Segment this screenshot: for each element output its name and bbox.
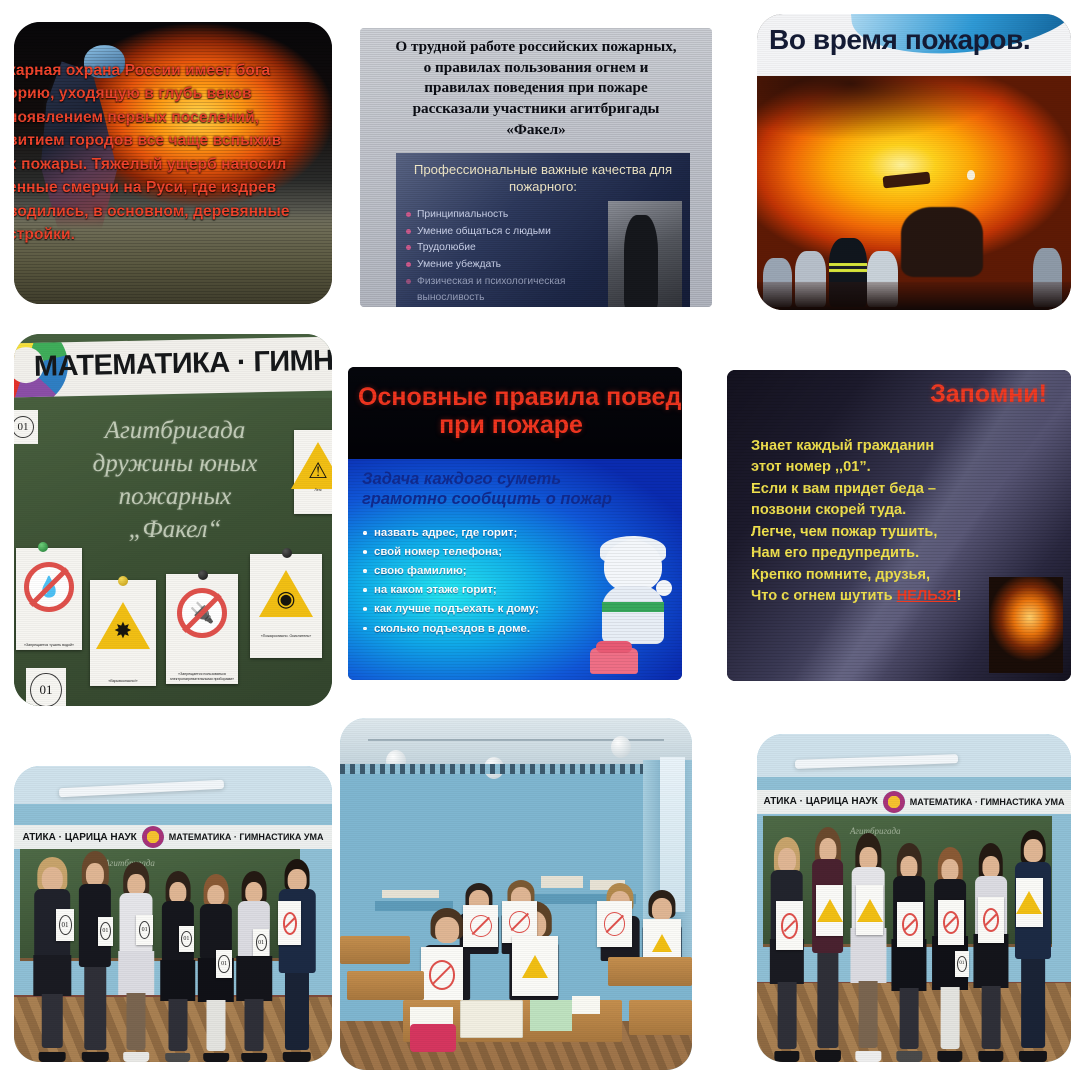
banner-text-left: АТИКА · ЦАРИЦА НАУК (763, 796, 877, 807)
student (848, 836, 889, 1062)
card-01: 01 (253, 929, 269, 956)
math-banner: МАТЕМАТИКА · ГИМНА (14, 337, 332, 398)
warning-triangle-icon: ✸ (96, 602, 150, 649)
prohibition-icon (943, 911, 959, 934)
poster-prohibition (978, 897, 1004, 942)
shoes (124, 1052, 150, 1062)
poster-caption: «Пожароопасно. Окислитель» (252, 634, 320, 638)
head (778, 848, 796, 873)
prohibition-icon (509, 911, 531, 933)
legs (245, 999, 264, 1050)
poster-warning (856, 885, 883, 935)
panel-group-photo-right[interactable]: АТИКА · ЦАРИЦА НАУК МАТЕМАТИКА · ГИМНАСТ… (757, 734, 1071, 1062)
banner-text-left: АТИКА · ЦАРИЦА НАУК (22, 832, 136, 843)
card-01: 01 (179, 926, 195, 953)
legs (982, 986, 1001, 1049)
card-01: 01 (955, 951, 969, 977)
chalk-line-3: пожарных (24, 480, 326, 513)
poster-prohibition (463, 905, 498, 947)
skirt (851, 928, 886, 982)
student: 01 (157, 873, 198, 1062)
skirt (33, 955, 70, 995)
math-banner-text: МАТЕМАТИКА · ГИМНА (34, 344, 332, 384)
head (169, 882, 186, 903)
card-01-number: 01 (59, 915, 72, 935)
card-01-number: 01 (256, 934, 267, 950)
poster-caption: «Запрещается тушить водой» (18, 643, 80, 647)
wall-frieze (340, 764, 692, 774)
prohibition-icon (470, 915, 492, 937)
head (942, 859, 959, 880)
head (207, 885, 224, 906)
poster-warning-partial: ⚠ Легк (294, 430, 332, 514)
head (288, 869, 307, 891)
warning-triangle-icon (817, 899, 843, 922)
student (766, 839, 807, 1062)
card-01-number: 01 (181, 931, 192, 947)
shoes (241, 1053, 267, 1062)
shoes (39, 1052, 66, 1062)
warning-triangle-icon (1016, 891, 1042, 914)
warning-triangle-icon: ⚠ (291, 442, 332, 489)
poster-no-water: 💧 «Запрещается тушить водой» (16, 548, 82, 650)
explosion-glyph: ✸ (104, 616, 142, 646)
skirt (236, 956, 272, 1001)
water-bucket-glyph: 💧 (37, 575, 62, 600)
warning-glyph: ⚠ (299, 456, 332, 486)
prohibition-icon (902, 913, 918, 937)
banner-text-right: МАТЕМАТИКА · ГИМНАСТИКА УМА (169, 832, 324, 842)
head (128, 874, 145, 896)
student: 01 (195, 876, 236, 1062)
shoes (774, 1051, 799, 1062)
desk (629, 1000, 692, 1035)
book-stack (382, 890, 438, 898)
ground (757, 282, 1071, 310)
smoke (757, 76, 1071, 156)
card-01-number: 01 (14, 416, 34, 438)
fire-photo (757, 76, 1071, 310)
book-stack (541, 876, 583, 888)
prohibition-icon (283, 912, 297, 935)
ceiling-lamp-globe (611, 736, 631, 758)
pin-yellow (118, 576, 128, 586)
panel-history-slide[interactable]: карная охрана России имеет бога орию, ух… (14, 22, 332, 304)
prohibition-icon (429, 960, 455, 989)
poster-explosive: ✸ «Взрывоопасно!» (90, 580, 156, 686)
legs (900, 988, 919, 1049)
legs (168, 999, 187, 1050)
head (42, 867, 62, 891)
shoes (815, 1050, 841, 1062)
open-book (460, 1000, 523, 1039)
poster-prohibition (597, 901, 632, 947)
debris (882, 172, 930, 189)
head (860, 847, 877, 870)
poster-prohibition (897, 902, 923, 947)
shoes (82, 1052, 108, 1062)
legs (42, 994, 62, 1048)
student (275, 861, 320, 1062)
shoes (937, 1051, 962, 1062)
poster-caption: Легк (296, 488, 332, 492)
school-bag (410, 1024, 456, 1052)
shoes (203, 1053, 229, 1062)
card-01-number: 01 (100, 922, 111, 940)
school-emblem-icon (142, 826, 164, 848)
shoes (165, 1053, 191, 1062)
poster-oxidizer: ◉ «Пожароопасно. Окислитель» (250, 554, 322, 658)
photo-collage: карная охрана России имеет бога орию, ух… (0, 0, 1080, 1080)
student (971, 846, 1012, 1062)
poster-warning (512, 936, 558, 996)
prohibition-icon: 🔌 (177, 588, 227, 638)
spark (967, 170, 975, 180)
prohibition-icon (983, 908, 999, 932)
card-01-number: 01 (30, 673, 61, 706)
head (245, 882, 262, 903)
panel-blackboard[interactable]: Агитбригада дружины юных пожарных „Факел… (14, 334, 332, 706)
prohibition-icon: 💧 (24, 562, 74, 612)
screen-scanlines (14, 22, 332, 304)
poster-caption: «Запрещается пользоваться электронагрева… (168, 672, 236, 681)
screen-scanlines (727, 370, 1071, 681)
poster-prohibition (278, 901, 301, 945)
legs (777, 982, 796, 1049)
poster-warning (1016, 878, 1043, 926)
heater-plug-glyph: 🔌 (190, 601, 215, 626)
screen-scanlines (348, 367, 682, 680)
card-01-number: 01 (139, 921, 151, 939)
legs (127, 993, 146, 1051)
poster-prohibition (421, 947, 463, 1003)
poster-no-heaters: 🔌 «Запрещается пользоваться электронагре… (166, 574, 238, 684)
legs (941, 987, 960, 1049)
panel-remember-slide[interactable]: Запомни! Знает каждый гражданин этот ном… (727, 370, 1071, 681)
green-notebook (530, 1000, 572, 1032)
head (982, 856, 999, 878)
head (819, 838, 836, 861)
oxidizer-flame-glyph: ◉ (267, 584, 305, 614)
card-01: 01 (26, 668, 66, 706)
card-01: 01 (14, 410, 38, 444)
card-01-number: 01 (218, 955, 230, 972)
panel-fire-photo-slide[interactable]: Во время пожаров. (757, 14, 1071, 310)
panel-title-slide[interactable]: О трудной работе российских пожарных, о … (360, 28, 712, 307)
legs (285, 973, 309, 1049)
desk (347, 971, 424, 999)
legs (817, 953, 838, 1048)
legs (1021, 959, 1045, 1049)
poster-caption: «Взрывоопасно!» (92, 679, 154, 683)
student: 01 (930, 849, 971, 1062)
banner-title: Во время пожаров. (769, 24, 1071, 56)
card-01: 01 (98, 917, 114, 946)
head (901, 856, 918, 878)
screen-scanlines (360, 28, 712, 307)
math-banner: АТИКА · ЦАРИЦА НАУК МАТЕМАТИКА · ГИМНАСТ… (14, 825, 332, 849)
window (660, 757, 685, 912)
head (435, 917, 459, 943)
shoes (1019, 1051, 1047, 1062)
warning-triangle-icon (652, 934, 672, 952)
legs (859, 981, 878, 1049)
warning-triangle-icon (857, 899, 883, 922)
student: 01 (233, 873, 274, 1062)
poster-warning (816, 885, 843, 936)
head (1024, 839, 1042, 862)
head (86, 863, 104, 886)
shoes (283, 1052, 311, 1062)
school-emblem-icon (883, 791, 905, 813)
pencil-case (572, 996, 600, 1014)
banner-text-right: МАТЕМАТИКА · ГИМНАСТИКА УМА (910, 797, 1065, 807)
desk (608, 957, 692, 985)
student: 01 (74, 855, 115, 1062)
warning-triangle-icon: ◉ (259, 570, 313, 617)
warning-triangle-icon (522, 955, 548, 978)
student: 01 (116, 864, 157, 1062)
student (1011, 832, 1055, 1062)
panel-group-photo-left[interactable]: АТИКА · ЦАРИЦА НАУК МАТЕМАТИКА · ГИМНАСТ… (14, 766, 332, 1062)
legs (84, 967, 105, 1050)
prohibition-icon (604, 912, 626, 936)
shoes (897, 1051, 922, 1062)
panel-rules-slide[interactable]: Основные правила повед при пожаре Задача… (348, 367, 682, 680)
skirt (160, 960, 196, 1002)
skirt (119, 951, 155, 995)
math-banner: АТИКА · ЦАРИЦА НАУК МАТЕМАТИКА · ГИМНАСТ… (757, 790, 1071, 814)
prohibition-icon (781, 913, 798, 939)
card-01: 01 (216, 950, 233, 978)
chalk-writing: Агитбригада дружины юных пожарных „Факел… (24, 414, 326, 546)
card-01: 01 (56, 909, 75, 941)
student: 01 (30, 861, 75, 1062)
shoes (978, 1051, 1003, 1062)
pin-black (198, 570, 208, 580)
chalk-line-1: Агитбригада (24, 414, 326, 447)
pin-green (38, 542, 48, 552)
panel-classroom-photo[interactable] (340, 718, 692, 1070)
poster-prohibition (776, 901, 803, 950)
card-01: 01 (136, 915, 153, 945)
desk (340, 936, 410, 964)
pin-black (282, 548, 292, 558)
student (889, 846, 930, 1062)
slide-banner: Во время пожаров. (757, 14, 1071, 76)
chalk-line-4: „Факел“ (24, 513, 326, 546)
chalk-line-2: дружины юных (24, 447, 326, 480)
poster-prohibition (938, 900, 964, 945)
shoes (856, 1051, 881, 1062)
card-01-number: 01 (957, 956, 967, 972)
reflective-stripe (829, 263, 867, 273)
legs (206, 1000, 225, 1050)
student (807, 829, 848, 1062)
